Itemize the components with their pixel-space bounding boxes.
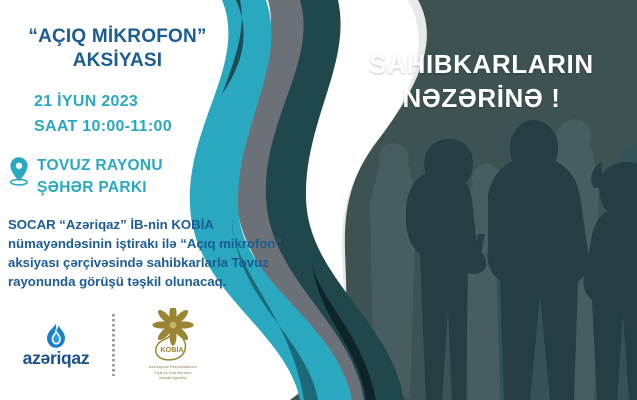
- kobia-subtitle: Azərbaycan Respublikasının Kiçik və Orta…: [149, 365, 197, 381]
- location-line-1: TOVUZ RAYONU: [37, 155, 163, 177]
- daisy-flower-icon: KOBİA: [145, 308, 201, 364]
- event-datetime: 21 İYUN 2023 SAAT 10:00-11:00: [34, 90, 172, 140]
- azeriqaz-wordmark: azəriqaz: [23, 350, 90, 368]
- event-description: SOCAR “Azəriqaz” İB-nin KOBİA nümayəndəs…: [8, 215, 328, 292]
- attention-headline-line-2: NƏZƏRİNƏ !: [344, 82, 619, 116]
- left-content-column: “AÇIQ MİKROFON” AKSİYASI 21 İYUN 2023 SA…: [0, 0, 345, 400]
- logo-divider: [112, 314, 115, 376]
- kobia-logo: KOBİA Azərbaycan Respublikasının Kiçik v…: [129, 308, 217, 381]
- location-line-2: ŞƏHƏR PARKI: [37, 177, 163, 199]
- description-line-3: aksiyası çərçivəsində sahibkarlarla Tovu…: [8, 253, 328, 272]
- attention-headline-line-1: SAHIBKARLARIN: [344, 48, 619, 82]
- page-title-line-2: AKSİYASI: [10, 49, 225, 73]
- attention-headline: SAHIBKARLARIN NƏZƏRİNƏ !: [344, 48, 619, 116]
- kobia-subtitle-line-1: Azərbaycan Respublikasının: [149, 365, 197, 370]
- event-location-text: TOVUZ RAYONU ŞƏHƏR PARKI: [37, 155, 163, 200]
- page-title-line-1: “AÇIQ MİKROFON”: [10, 25, 225, 49]
- map-pin-icon: [8, 156, 30, 186]
- description-line-1: SOCAR “Azəriqaz” İB-nin KOBİA: [8, 215, 328, 234]
- kobia-subtitle-line-3: İnkişafı Agentliyi: [149, 376, 197, 381]
- flame-icon: [44, 323, 68, 349]
- svg-text:KOBİA: KOBİA: [160, 345, 183, 354]
- description-line-4: rayonunda görüşü təşkil olunacaq.: [8, 272, 328, 291]
- event-time: SAAT 10:00-11:00: [34, 115, 172, 140]
- event-date: 21 İYUN 2023: [34, 90, 172, 115]
- azeriqaz-logo: azəriqaz: [10, 323, 102, 368]
- page-title: “AÇIQ MİKROFON” AKSİYASI: [10, 25, 225, 72]
- event-announcement-poster: “AÇIQ MİKROFON” AKSİYASI 21 İYUN 2023 SA…: [0, 0, 637, 400]
- sponsor-logos: azəriqaz: [10, 305, 225, 385]
- event-location: TOVUZ RAYONU ŞƏHƏR PARKI: [8, 155, 163, 200]
- description-line-2: nümayəndəsinin iştirakı ilə “Açıq mikrof…: [8, 234, 328, 253]
